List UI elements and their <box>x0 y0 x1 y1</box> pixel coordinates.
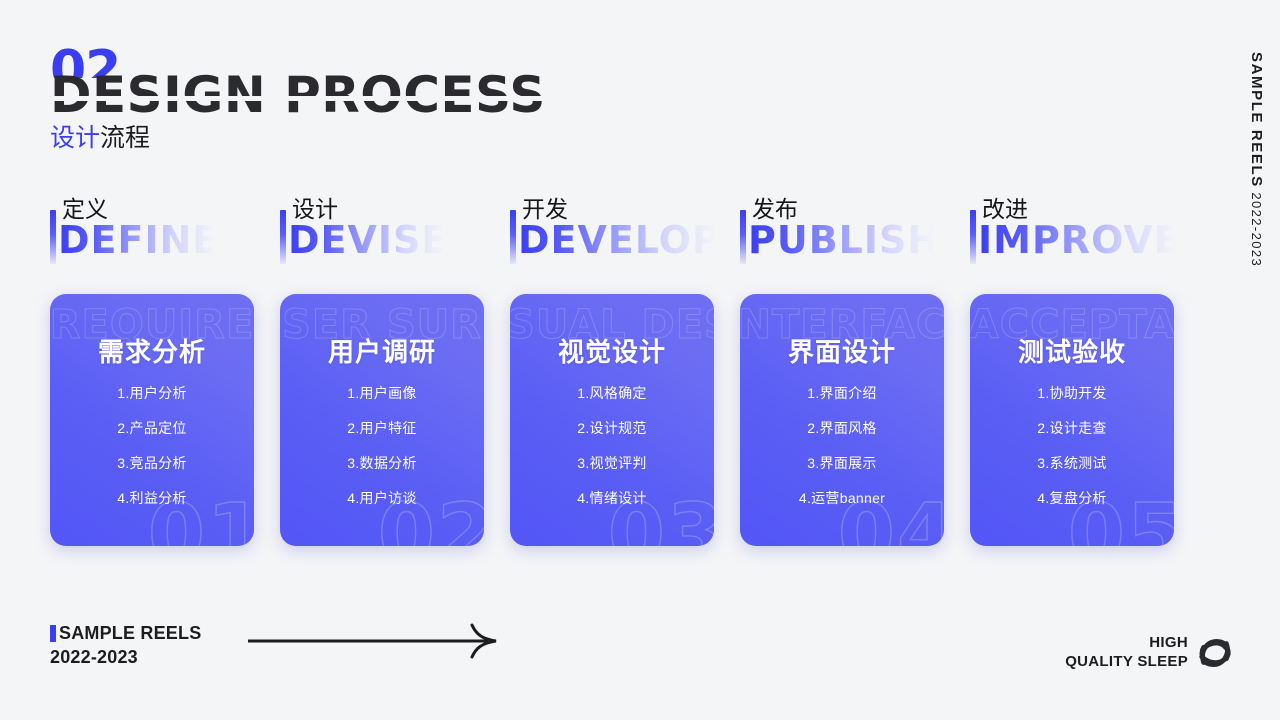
step-header: 改进 IMPROVE <box>970 196 1210 270</box>
list-item: 4.复盘分析 <box>970 491 1174 505</box>
card-item-list: 1.协助开发 2.设计走查 3.系统测试 4.复盘分析 <box>970 386 1174 526</box>
list-item: 4.情绪设计 <box>510 491 714 505</box>
vertical-brand-main: SAMPLE REELS <box>1248 52 1265 188</box>
card-title: 测试验收 <box>970 332 1174 369</box>
step-header: 发布 PUBLISH <box>740 196 980 270</box>
list-item: 1.风格确定 <box>510 386 714 400</box>
list-item: 2.界面风格 <box>740 421 944 435</box>
card-title: 需求分析 <box>50 332 254 369</box>
step-card[interactable]: SER SUR 02 用户调研 1.用户画像 2.用户特征 3.数据分析 4.用… <box>280 294 484 546</box>
list-item: 1.协助开发 <box>970 386 1174 400</box>
page-subtitle: 设计流程 <box>50 126 150 151</box>
footer-logo-line2: QUALITY SLEEP <box>1065 653 1188 672</box>
list-item: 3.界面展示 <box>740 456 944 470</box>
list-item: 1.用户画像 <box>280 386 484 400</box>
card-title: 用户调研 <box>280 332 484 369</box>
step-header: 设计 DEVISE <box>280 196 520 270</box>
process-steps: 定义 DEFINE REQUIRE 01 需求分析 1.用户分析 2.产品定位 … <box>50 196 1230 556</box>
list-item: 3.竞品分析 <box>50 456 254 470</box>
page-title-text: DESIGN PROCESS <box>50 66 546 124</box>
step-label-en: DEVISE <box>288 218 448 264</box>
progress-arrow <box>248 623 498 664</box>
footer-logo-text: HIGH QUALITY SLEEP <box>1065 634 1188 672</box>
knot-logo-icon <box>1196 634 1234 672</box>
footer-brand-main: SAMPLE REELS <box>59 624 201 642</box>
list-item: 2.用户特征 <box>280 421 484 435</box>
page-subtitle-accent: 设计 <box>50 124 100 152</box>
footer-logo-line1: HIGH <box>1065 634 1188 653</box>
step-card[interactable]: NTERFAC 04 界面设计 1.界面介绍 2.界面风格 3.界面展示 4.运… <box>740 294 944 546</box>
process-step: 改进 IMPROVE ACCEPTA 05 测试验收 1.协助开发 2.设计走查… <box>970 196 1174 556</box>
list-item: 2.产品定位 <box>50 421 254 435</box>
list-item: 3.系统测试 <box>970 456 1174 470</box>
step-accent-bar <box>50 210 56 264</box>
card-item-list: 1.风格确定 2.设计规范 3.视觉评判 4.情绪设计 <box>510 386 714 526</box>
card-title: 界面设计 <box>740 332 944 369</box>
step-label-en: IMPROVE <box>978 218 1181 264</box>
page-title: DESIGN PROCESS <box>50 70 546 120</box>
title-mask-band <box>46 96 556 101</box>
vertical-brand-sub: 2022-2023 <box>1249 192 1264 267</box>
list-item: 3.数据分析 <box>280 456 484 470</box>
process-step: 设计 DEVISE SER SUR 02 用户调研 1.用户画像 2.用户特征 … <box>280 196 484 556</box>
step-accent-bar <box>970 210 976 264</box>
arrow-right-icon <box>248 623 498 659</box>
list-item: 3.视觉评判 <box>510 456 714 470</box>
list-item: 4.运营banner <box>740 491 944 505</box>
step-card[interactable]: REQUIRE 01 需求分析 1.用户分析 2.产品定位 3.竞品分析 4.利… <box>50 294 254 546</box>
step-header: 定义 DEFINE <box>50 196 290 270</box>
footer-brand: SAMPLE REELS 2022-2023 <box>50 624 201 670</box>
step-header: 开发 DEVELOP <box>510 196 750 270</box>
card-item-list: 1.用户画像 2.用户特征 3.数据分析 4.用户访谈 <box>280 386 484 526</box>
step-card[interactable]: ISUAL DES 03 视觉设计 1.风格确定 2.设计规范 3.视觉评判 4… <box>510 294 714 546</box>
list-item: 4.利益分析 <box>50 491 254 505</box>
list-item: 1.界面介绍 <box>740 386 944 400</box>
step-label-en: PUBLISH <box>748 218 940 264</box>
card-item-list: 1.用户分析 2.产品定位 3.竞品分析 4.利益分析 <box>50 386 254 526</box>
page-subtitle-rest: 流程 <box>100 124 150 152</box>
footer-logo-block: HIGH QUALITY SLEEP <box>1065 634 1234 672</box>
footer-brand-sub: 2022-2023 <box>50 648 201 666</box>
step-accent-bar <box>740 210 746 264</box>
process-step: 开发 DEVELOP ISUAL DES 03 视觉设计 1.风格确定 2.设计… <box>510 196 714 556</box>
vertical-brand-label: SAMPLE REELS 2022-2023 <box>1246 52 1266 267</box>
list-item: 2.设计走查 <box>970 421 1174 435</box>
list-item: 1.用户分析 <box>50 386 254 400</box>
step-card[interactable]: ACCEPTA 05 测试验收 1.协助开发 2.设计走查 3.系统测试 4.复… <box>970 294 1174 546</box>
process-step: 发布 PUBLISH NTERFAC 04 界面设计 1.界面介绍 2.界面风格… <box>740 196 944 556</box>
list-item: 2.设计规范 <box>510 421 714 435</box>
step-label-en: DEVELOP <box>518 218 721 264</box>
process-step: 定义 DEFINE REQUIRE 01 需求分析 1.用户分析 2.产品定位 … <box>50 196 254 556</box>
card-title: 视觉设计 <box>510 332 714 369</box>
slide-title-block: 02 DESIGN PROCESS 设计流程 <box>50 44 670 154</box>
step-accent-bar <box>510 210 516 264</box>
footer-accent-bar <box>50 625 56 642</box>
step-accent-bar <box>280 210 286 264</box>
card-item-list: 1.界面介绍 2.界面风格 3.界面展示 4.运营banner <box>740 386 944 526</box>
step-label-en: DEFINE <box>58 218 219 264</box>
list-item: 4.用户访谈 <box>280 491 484 505</box>
footer-brand-main-row: SAMPLE REELS <box>50 624 201 642</box>
